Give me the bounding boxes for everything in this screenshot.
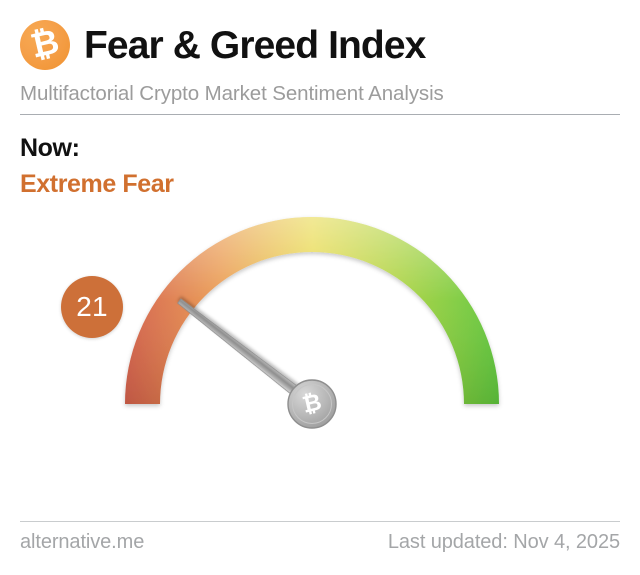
fear-greed-index-widget: ₿ Fear & Greed Index Multifactorial Cryp…: [0, 0, 640, 575]
gauge-svg: ₿: [0, 190, 640, 500]
gauge-arc: [125, 217, 499, 404]
bitcoin-icon: ₿: [20, 20, 70, 70]
gauge-needle: ₿: [176, 297, 336, 428]
title-row: ₿ Fear & Greed Index: [20, 16, 620, 74]
page-subtitle: Multifactorial Crypto Market Sentiment A…: [20, 83, 620, 106]
footer-divider: [20, 521, 620, 522]
score-badge-value: 21: [76, 293, 108, 321]
status-now-label: Now:: [20, 133, 174, 164]
page-title: Fear & Greed Index: [84, 26, 425, 65]
footer-source-link[interactable]: alternative.me: [20, 531, 144, 554]
gauge: ₿: [0, 190, 640, 500]
score-badge: 21: [61, 276, 123, 338]
bitcoin-glyph: ₿: [28, 24, 63, 63]
header: ₿ Fear & Greed Index Multifactorial Cryp…: [20, 16, 620, 106]
header-divider: [20, 114, 620, 115]
footer-last-updated: Last updated: Nov 4, 2025: [388, 531, 620, 554]
footer: alternative.me Last updated: Nov 4, 2025: [20, 531, 620, 554]
